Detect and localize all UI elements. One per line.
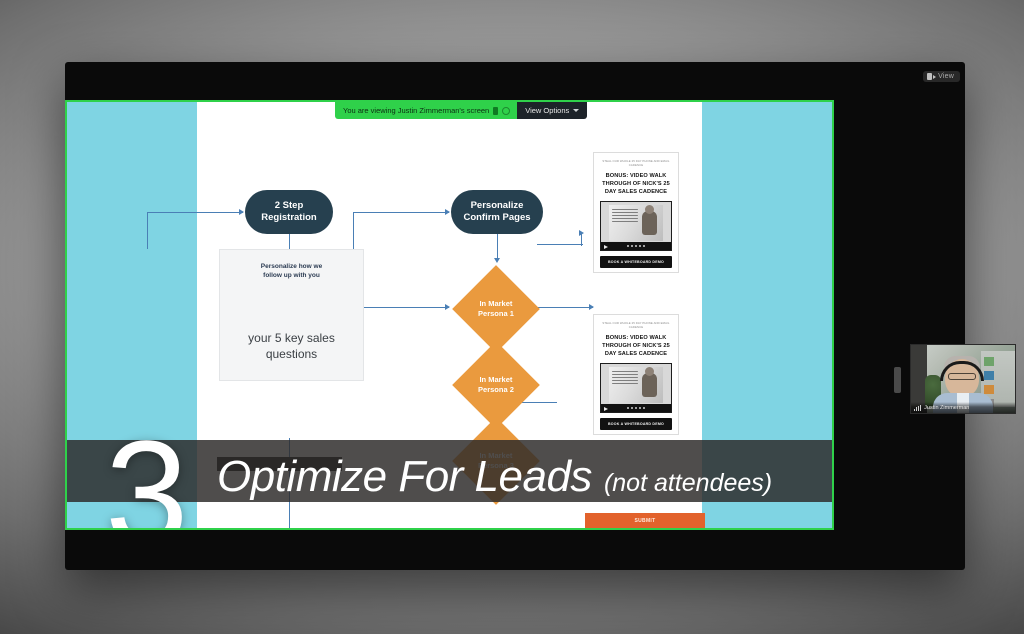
video-text-lines [612, 209, 638, 224]
decision-label: In Market [480, 375, 513, 384]
participant-video-tile[interactable]: Justin Zimmerman [910, 344, 1016, 414]
view-options-label: View Options [525, 106, 569, 115]
view-button-label: View [938, 73, 954, 80]
microphone-icon [914, 405, 921, 411]
offer-title-line1: BONUS: VIDEO WALK [606, 335, 667, 341]
connector-arrow [445, 304, 450, 310]
offer-title-line2: THROUGH OF NICK'S 25 [602, 181, 670, 187]
participant-name-bar: Justin Zimmerman [911, 402, 1015, 413]
slide-title: Optimize For Leads [217, 452, 592, 502]
view-icon [927, 73, 935, 80]
screen-share-notice-bar: You are viewing Justin Zimmerman's scree… [335, 102, 587, 119]
offer-eyebrow: STEAL OUR WHOLE 25 DAY PHONE AND EMAIL C… [600, 321, 672, 329]
video-person [642, 373, 657, 397]
submit-button[interactable]: SUBMIT [585, 513, 705, 529]
offer-card[interactable]: STEAL OUR WHOLE 25 DAY PHONE AND EMAIL C… [593, 152, 679, 273]
panel-resize-handle[interactable] [894, 367, 901, 393]
personalize-doc-card[interactable]: Personalize how we follow up with you yo… [219, 249, 364, 381]
connector [353, 307, 449, 308]
video-person [642, 211, 657, 235]
flow-node-label: Registration [261, 212, 316, 224]
offer-title-line3: DAY SALES CADENCE [605, 351, 667, 357]
doc-card-header-line1: Personalize how we [261, 263, 322, 270]
decision-label: In Market [480, 299, 513, 308]
doc-card-header-line2: follow up with you [263, 272, 320, 279]
connector-arrow [239, 209, 244, 215]
remote-control-icon [502, 107, 510, 115]
flow-node-personalize-confirm-pages[interactable]: Personalize Confirm Pages [451, 190, 543, 234]
play-icon[interactable] [604, 245, 608, 249]
connector-arrow [579, 230, 584, 236]
connector [497, 234, 498, 260]
doc-card-question-line2: questions [266, 347, 317, 361]
offer-cta-secondary[interactable]: START A 30 DAY UNLIMITED TRIAL [600, 434, 672, 435]
doc-card-question-line1: your 5 key sales [248, 331, 335, 345]
share-indicator-icon [493, 107, 498, 115]
doc-card-header: Personalize how we follow up with you [220, 262, 363, 280]
offer-title-line1: BONUS: VIDEO WALK [606, 173, 667, 179]
offer-title-line3: DAY SALES CADENCE [605, 189, 667, 195]
flow-node-2-step-registration[interactable]: 2 Step Registration [245, 190, 333, 234]
connector [537, 244, 583, 245]
offer-eyebrow: STEAL OUR WHOLE 25 DAY PHONE AND EMAIL C… [600, 159, 672, 167]
decision-label: Persona 2 [478, 385, 514, 394]
slide-subtitle: (not attendees) [604, 469, 772, 498]
flow-node-label: Confirm Pages [463, 212, 530, 224]
offer-cta-primary[interactable]: BOOK A WHITEBOARD DEMO [600, 256, 672, 268]
video-text-lines [612, 371, 638, 386]
offer-title: BONUS: VIDEO WALK THROUGH OF NICK'S 25 D… [600, 172, 672, 196]
decision-label: Persona 1 [478, 309, 514, 318]
chevron-down-icon [573, 109, 579, 112]
connector [353, 212, 449, 213]
offer-title: BONUS: VIDEO WALK THROUGH OF NICK'S 25 D… [600, 334, 672, 358]
viewing-notice: You are viewing Justin Zimmerman's scree… [335, 102, 517, 119]
view-button[interactable]: View [923, 71, 960, 82]
connector-arrow [445, 209, 450, 215]
flow-node-label: Personalize [471, 200, 524, 212]
connector [147, 213, 148, 249]
offer-card[interactable]: STEAL OUR WHOLE 25 DAY PHONE AND EMAIL C… [593, 314, 679, 435]
viewing-notice-text: You are viewing Justin Zimmerman's scree… [343, 106, 489, 115]
glasses-icon [948, 373, 976, 380]
video-controls-bar[interactable] [601, 242, 671, 250]
shared-screen-viewport: 2 Step Registration Personalize Confirm … [65, 100, 834, 530]
video-controls-bar[interactable] [601, 404, 671, 412]
offer-cta-secondary[interactable]: START A 30 DAY UNLIMITED TRIAL [600, 272, 672, 273]
monitor-frame: View 2 Step Registration [65, 62, 965, 570]
participant-name-label: Justin Zimmerman [924, 405, 969, 411]
slide-number: 3 [105, 418, 188, 530]
doc-card-question: your 5 key sales questions [220, 330, 363, 362]
offer-title-line2: THROUGH OF NICK'S 25 [602, 343, 670, 349]
slide-title-group: Optimize For Leads (not attendees) [217, 452, 772, 502]
view-options-button[interactable]: View Options [517, 102, 587, 119]
connector-arrow [589, 304, 594, 310]
connector [147, 212, 243, 213]
flow-node-label: 2 Step [275, 200, 304, 212]
connector-arrow [494, 258, 500, 263]
offer-video-thumbnail[interactable] [600, 363, 672, 413]
connector [537, 307, 593, 308]
offer-video-thumbnail[interactable] [600, 201, 672, 251]
offer-cta-primary[interactable]: BOOK A WHITEBOARD DEMO [600, 418, 672, 430]
play-icon[interactable] [604, 407, 608, 411]
